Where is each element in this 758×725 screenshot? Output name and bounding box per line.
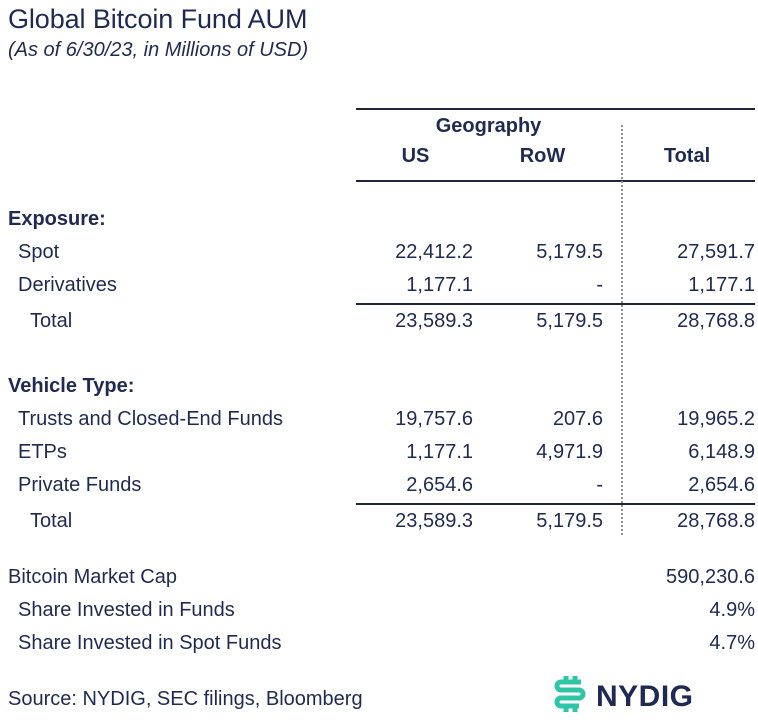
- subtotal-rule: [356, 503, 755, 505]
- row-value-total: 4.9%: [614, 599, 758, 622]
- row-value-us: 22,412.2: [356, 241, 475, 264]
- row-value-total: 19,965.2: [614, 408, 758, 431]
- section-heading-row: Exposure:: [0, 204, 758, 235]
- column-group-header-geography: Geography: [356, 115, 621, 138]
- nydig-logo: NYDIG: [548, 672, 694, 721]
- row-label: ETPs: [0, 441, 356, 464]
- row-label: Spot: [0, 241, 356, 264]
- row-label: Private Funds: [0, 474, 356, 497]
- page-subtitle: (As of 6/30/23, in Millions of USD): [8, 38, 748, 62]
- row-value-row: 5,179.5: [475, 310, 614, 333]
- section-heading-vehicle-type: Vehicle Type:: [0, 375, 356, 398]
- row-value-total: 28,768.8: [614, 310, 758, 333]
- summary-row: Bitcoin Market Cap 590,230.6: [0, 562, 758, 593]
- page-title: Global Bitcoin Fund AUM: [8, 4, 748, 35]
- row-value-total: 4.7%: [614, 632, 758, 655]
- column-header-total: Total: [622, 145, 752, 168]
- row-value-us: 1,177.1: [356, 441, 475, 464]
- row-value-total: 2,654.6: [614, 474, 758, 497]
- row-value-us: 23,589.3: [356, 310, 475, 333]
- row-label: Derivatives: [0, 274, 356, 297]
- row-label: Share Invested in Funds: [0, 599, 356, 622]
- table-top-rule: [356, 108, 755, 110]
- row-label: Total: [0, 310, 356, 333]
- row-value-row: 207.6: [475, 408, 614, 431]
- nydig-mark-icon: [548, 672, 592, 721]
- row-label: Bitcoin Market Cap: [0, 566, 356, 589]
- row-label: Trusts and Closed-End Funds: [0, 408, 356, 431]
- table-row: Spot 22,412.2 5,179.5 27,591.7: [0, 237, 758, 268]
- column-header-row: RoW: [475, 145, 610, 168]
- row-value-us: 1,177.1: [356, 274, 475, 297]
- title-block: Global Bitcoin Fund AUM (As of 6/30/23, …: [8, 4, 748, 62]
- row-value-us: 23,589.3: [356, 510, 475, 533]
- row-value-total: 590,230.6: [614, 566, 758, 589]
- row-value-row: -: [475, 474, 614, 497]
- section-heading-exposure: Exposure:: [0, 208, 356, 231]
- table-row: Derivatives 1,177.1 - 1,177.1: [0, 270, 758, 301]
- row-label: Total: [0, 510, 356, 533]
- row-value-total: 27,591.7: [614, 241, 758, 264]
- table-row: Trusts and Closed-End Funds 19,757.6 207…: [0, 404, 758, 435]
- row-value-row: 5,179.5: [475, 510, 614, 533]
- row-value-us: 19,757.6: [356, 408, 475, 431]
- nydig-wordmark: NYDIG: [596, 682, 694, 712]
- section-heading-row: Vehicle Type:: [0, 371, 758, 402]
- row-value-row: 5,179.5: [475, 241, 614, 264]
- subtotal-rule: [356, 303, 755, 305]
- row-label: Share Invested in Spot Funds: [0, 632, 356, 655]
- row-value-total: 28,768.8: [614, 510, 758, 533]
- row-value-us: 2,654.6: [356, 474, 475, 497]
- row-value-total: 6,148.9: [614, 441, 758, 464]
- table-header-rule: [356, 180, 755, 182]
- table-row: ETPs 1,177.1 4,971.9 6,148.9: [0, 437, 758, 468]
- table-total-row: Total 23,589.3 5,179.5 28,768.8: [0, 306, 758, 337]
- table-row: Private Funds 2,654.6 - 2,654.6: [0, 470, 758, 501]
- table-total-row: Total 23,589.3 5,179.5 28,768.8: [0, 506, 758, 537]
- row-value-row: 4,971.9: [475, 441, 614, 464]
- source-note: Source: NYDIG, SEC filings, Bloomberg: [8, 688, 363, 711]
- row-value-total: 1,177.1: [614, 274, 758, 297]
- column-header-us: US: [356, 145, 475, 168]
- row-value-row: -: [475, 274, 614, 297]
- summary-row: Share Invested in Spot Funds 4.7%: [0, 628, 758, 659]
- summary-row: Share Invested in Funds 4.9%: [0, 595, 758, 626]
